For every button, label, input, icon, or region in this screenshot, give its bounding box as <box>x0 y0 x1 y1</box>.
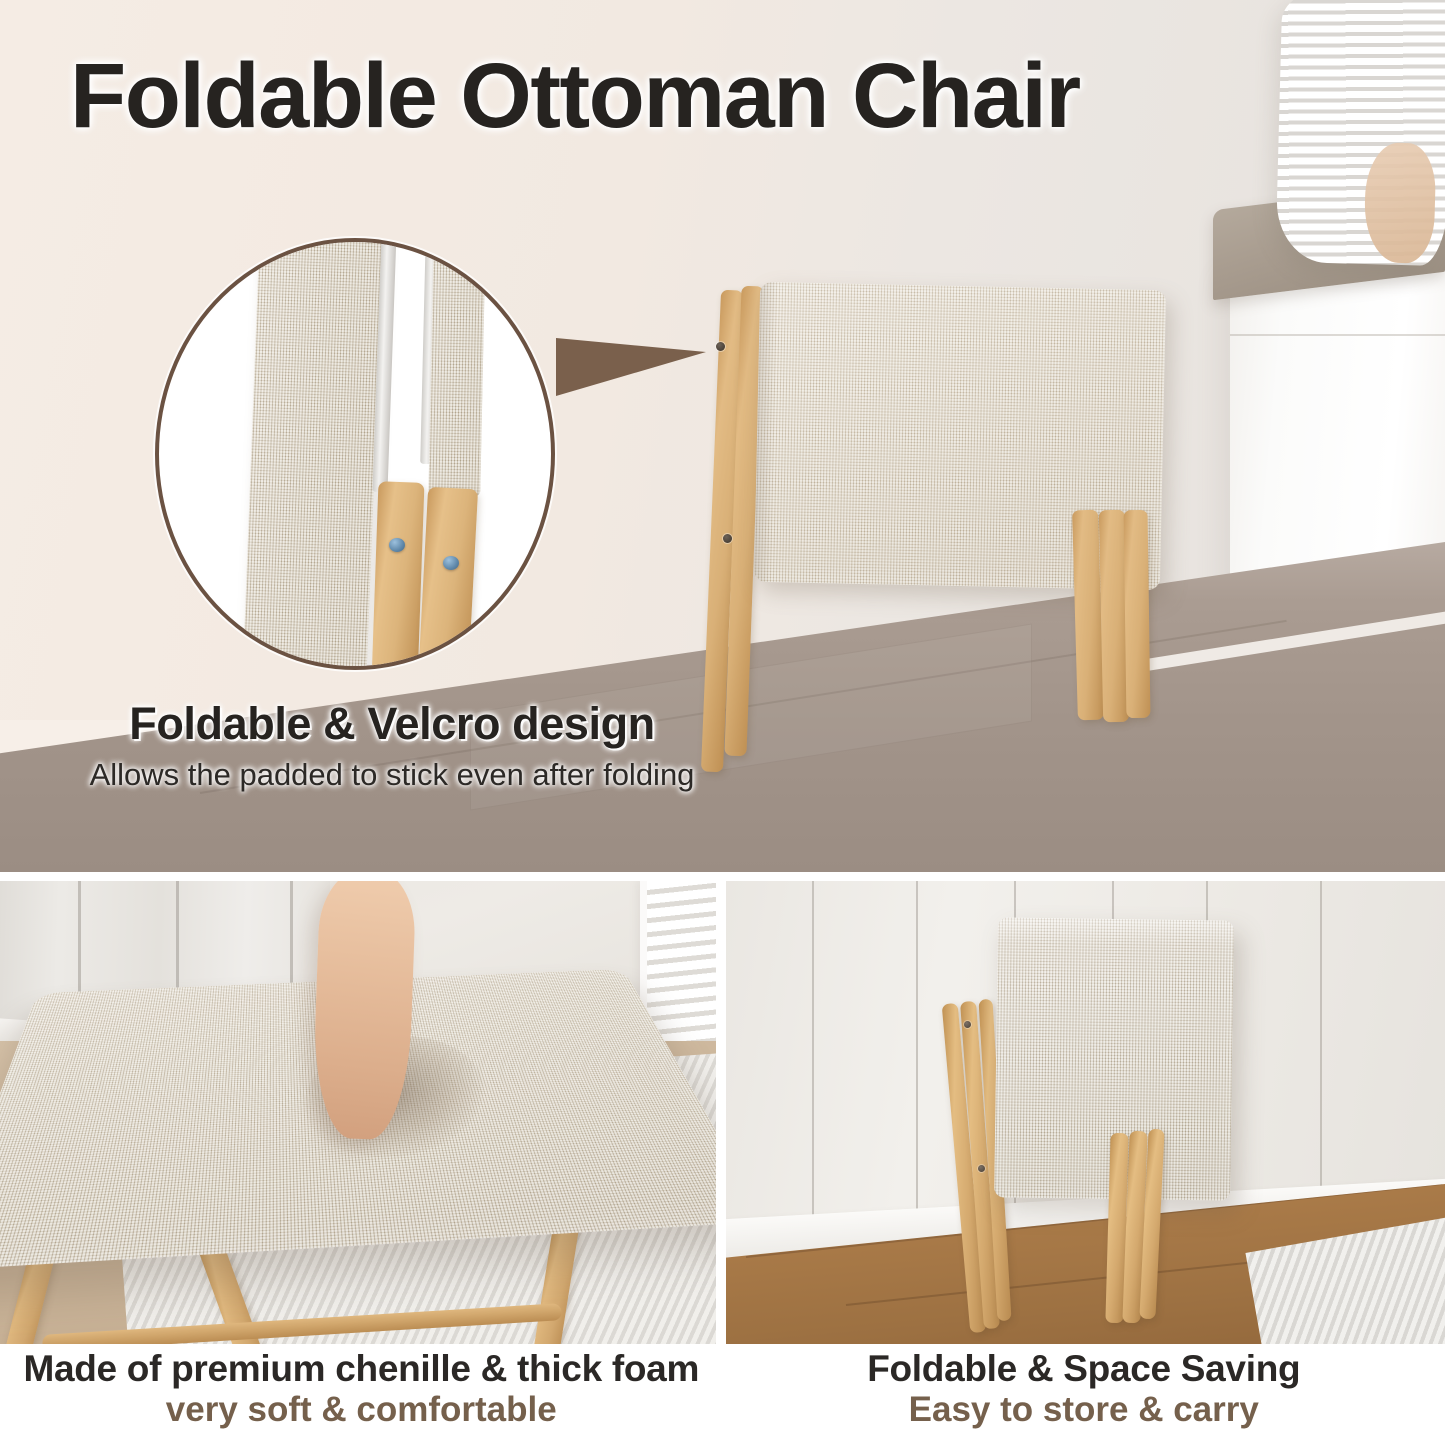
caption-left-heading: Made of premium chenille & thick foam <box>0 1348 723 1389</box>
screw-icon <box>964 1021 971 1028</box>
screw-icon <box>723 534 732 543</box>
ottoman-leg <box>1124 510 1151 718</box>
bottom-caption-row: Made of premium chenille & thick foam ve… <box>0 1344 1445 1432</box>
bottom-left-panel <box>0 881 716 1344</box>
closeup-bamboo-leg <box>418 487 478 670</box>
closeup-bamboo-leg <box>372 481 425 670</box>
closeup-fabric-strip <box>428 238 485 497</box>
top-panel: Foldable Ottoman Chair Foldable & Velcro… <box>0 0 1445 872</box>
velcro-closeup-callout <box>155 238 555 670</box>
bottom-right-panel <box>726 881 1445 1344</box>
infographic-page: Foldable Ottoman Chair Foldable & Velcro… <box>0 0 1445 1432</box>
velcro-caption-heading: Foldable & Velcro design <box>62 700 722 749</box>
wall-panel-seam <box>916 881 918 1241</box>
vertical-divider <box>716 881 726 1344</box>
caption-left-subheading: very soft & comfortable <box>0 1390 723 1429</box>
folded-ottoman-product <box>948 909 1378 1339</box>
blue-screw-icon <box>443 556 459 570</box>
page-title: Foldable Ottoman Chair <box>70 50 1080 142</box>
caption-left: Made of premium chenille & thick foam ve… <box>0 1344 723 1432</box>
velcro-caption-block: Foldable & Velcro design Allows the padd… <box>62 700 722 792</box>
wall-panel-seam <box>812 881 814 1241</box>
velcro-caption-subheading: Allows the padded to stick even after fo… <box>62 758 722 792</box>
callout-arrow-icon <box>556 338 706 396</box>
page-title-text: Foldable Ottoman Chair <box>70 50 1080 142</box>
cushion-top-edge <box>998 917 1234 946</box>
screw-icon <box>716 342 725 351</box>
horizontal-divider <box>0 872 1445 881</box>
screw-icon <box>978 1165 985 1172</box>
caption-right-heading: Foldable & Space Saving <box>723 1348 1445 1389</box>
blue-screw-icon <box>389 538 405 552</box>
ottoman-stool-open <box>0 889 716 1339</box>
closeup-fabric-panel <box>242 238 383 670</box>
folded-ottoman-product <box>705 272 1175 772</box>
caption-right-subheading: Easy to store & carry <box>723 1390 1445 1429</box>
striped-textile <box>1275 0 1445 266</box>
caption-right: Foldable & Space Saving Easy to store & … <box>723 1344 1445 1432</box>
ottoman-cross-rail <box>42 1303 562 1344</box>
